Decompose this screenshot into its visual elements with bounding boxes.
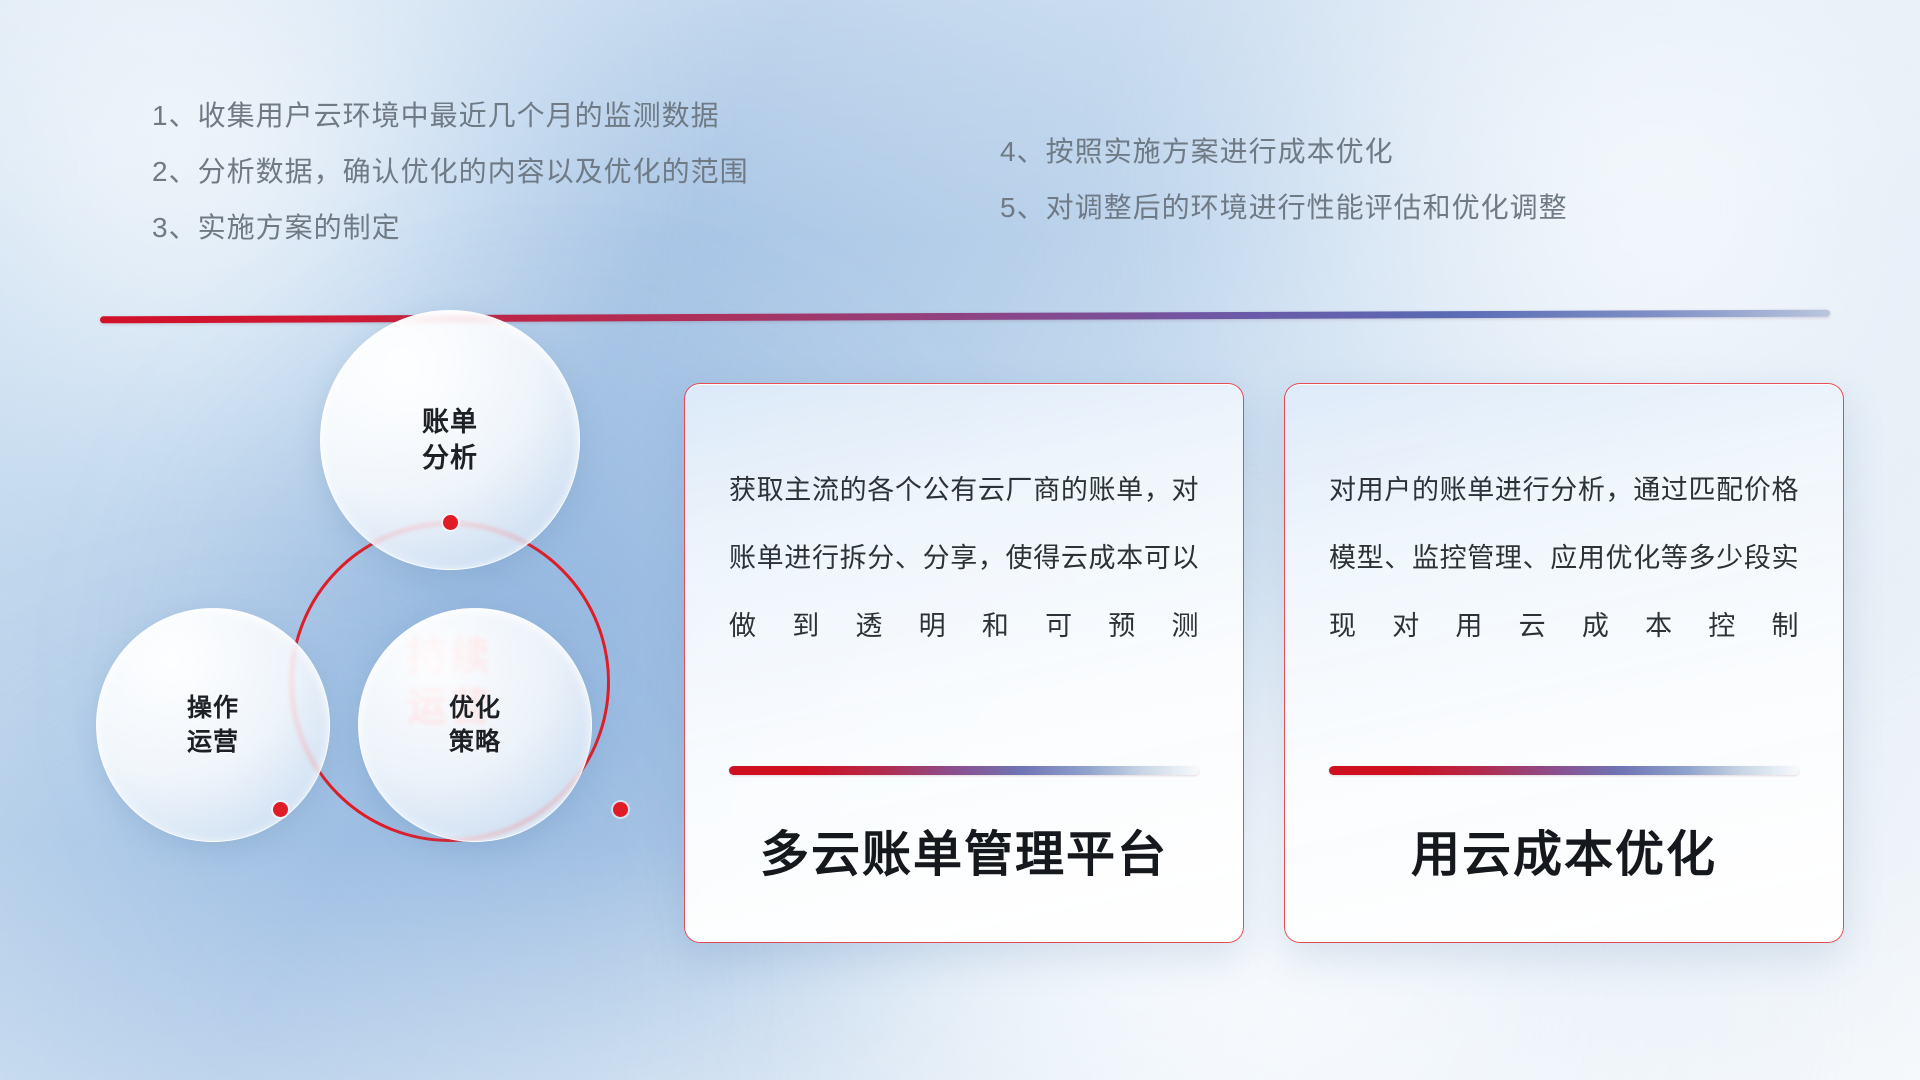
diagram-bubble-label: 操作 运营 <box>187 691 239 759</box>
diagram-bubble-operation[interactable]: 操作 运营 <box>96 608 330 842</box>
bubble-line2: 策略 <box>449 725 501 759</box>
bubble-line2: 分析 <box>422 440 478 476</box>
diagram-bubble-label: 优化 策略 <box>449 691 501 759</box>
bubble-line2: 运营 <box>187 725 239 759</box>
bubble-line1: 优化 <box>449 691 501 725</box>
feature-card-cloud-cost-optimization[interactable]: 对用户的账单进行分析，通过匹配价格模型、监控管理、应用优化等多少段实现对用云成本… <box>1284 383 1844 943</box>
diagram-node-dot-left <box>273 802 288 817</box>
feature-card-multicloud-billing[interactable]: 获取主流的各个公有云厂商的账单，对账单进行拆分、分享，使得云成本可以做到透明和可… <box>684 383 1244 943</box>
process-steps-left-column: 1、收集用户云环境中最近几个月的监测数据 2、分析数据，确认优化的内容以及优化的… <box>152 88 749 256</box>
process-steps-right-column: 4、按照实施方案进行成本优化 5、对调整后的环境进行性能评估和优化调整 <box>1000 124 1568 236</box>
process-steps-list: 1、收集用户云环境中最近几个月的监测数据 2、分析数据，确认优化的内容以及优化的… <box>0 88 1920 268</box>
process-step-5: 5、对调整后的环境进行性能评估和优化调整 <box>1000 180 1568 236</box>
diagram-bubble-label: 账单 分析 <box>422 404 478 476</box>
continuous-operation-diagram: 持续 运营 账单 分析 操作 运营 优化 策略 <box>96 352 616 912</box>
diagram-node-dot-top <box>443 515 458 530</box>
process-step-2: 2、分析数据，确认优化的内容以及优化的范围 <box>152 144 749 200</box>
feature-card-body: 获取主流的各个公有云厂商的账单，对账单进行拆分、分享，使得云成本可以做到透明和可… <box>729 456 1199 660</box>
diagram-node-dot-right <box>613 802 628 817</box>
process-step-4: 4、按照实施方案进行成本优化 <box>1000 124 1568 180</box>
feature-card-title: 多云账单管理平台 <box>729 775 1199 942</box>
diagram-bubble-optimization-strategy[interactable]: 优化 策略 <box>358 608 592 842</box>
feature-card-title: 用云成本优化 <box>1329 775 1799 942</box>
feature-card-body: 对用户的账单进行分析，通过匹配价格模型、监控管理、应用优化等多少段实现对用云成本… <box>1329 456 1799 660</box>
bubble-line1: 操作 <box>187 691 239 725</box>
feature-cards: 获取主流的各个公有云厂商的账单，对账单进行拆分、分享，使得云成本可以做到透明和可… <box>684 383 1844 943</box>
process-step-3: 3、实施方案的制定 <box>152 200 749 256</box>
process-step-1: 1、收集用户云环境中最近几个月的监测数据 <box>152 88 749 144</box>
feature-card-divider <box>729 766 1199 775</box>
feature-card-divider <box>1329 766 1799 775</box>
diagram-bubble-bill-analysis[interactable]: 账单 分析 <box>320 310 580 570</box>
bubble-line1: 账单 <box>422 404 478 440</box>
